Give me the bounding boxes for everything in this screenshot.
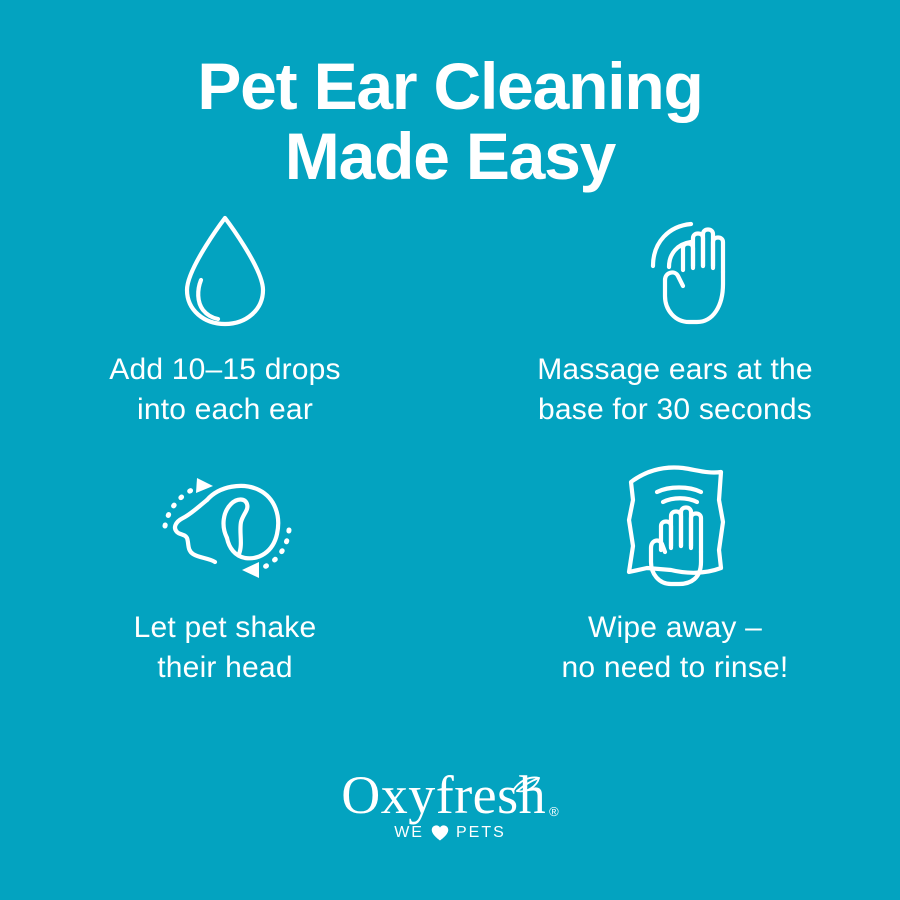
caption-line-2: base for 30 seconds	[537, 390, 813, 430]
massaging-hand-icon	[607, 210, 743, 328]
title-line-2: Made Easy	[0, 122, 900, 192]
step-item: Wipe away – no need to rinse!	[450, 460, 900, 710]
caption-line-2: no need to rinse!	[562, 648, 789, 688]
logo-wordmark-text: Oxyfresh	[341, 768, 546, 822]
brand-logo: Oxyfresh ® WE PETS	[0, 768, 900, 842]
tagline-prefix: WE	[394, 824, 424, 842]
caption-line-2: their head	[134, 648, 317, 688]
step-caption: Massage ears at the base for 30 seconds	[537, 350, 813, 430]
step-caption: Wipe away – no need to rinse!	[562, 608, 789, 688]
tagline-suffix: PETS	[456, 824, 506, 842]
poster: Pet Ear Cleaning Made Easy Add 10–15 dro…	[0, 0, 900, 900]
steps-grid: Add 10–15 drops into each ear	[0, 210, 900, 710]
logo-wordmark: Oxyfresh ®	[341, 768, 559, 822]
caption-line-1: Wipe away –	[562, 608, 789, 648]
registered-trademark-mark: ®	[549, 805, 559, 818]
hand-wiping-cloth-icon	[613, 460, 737, 586]
step-item: Add 10–15 drops into each ear	[0, 210, 450, 460]
dog-head-shaking-icon	[141, 460, 309, 586]
heart-icon	[431, 824, 449, 842]
caption-line-1: Massage ears at the	[537, 350, 813, 390]
step-item: Massage ears at the base for 30 seconds	[450, 210, 900, 460]
step-item: Let pet shake their head	[0, 460, 450, 710]
caption-line-2: into each ear	[109, 390, 341, 430]
step-caption: Let pet shake their head	[134, 608, 317, 688]
water-droplet-icon	[177, 210, 273, 328]
caption-line-1: Add 10–15 drops	[109, 350, 341, 390]
step-caption: Add 10–15 drops into each ear	[109, 350, 341, 430]
logo-tagline: WE PETS	[394, 824, 506, 842]
title-line-1: Pet Ear Cleaning	[0, 52, 900, 122]
page-title: Pet Ear Cleaning Made Easy	[0, 0, 900, 192]
caption-line-1: Let pet shake	[134, 608, 317, 648]
